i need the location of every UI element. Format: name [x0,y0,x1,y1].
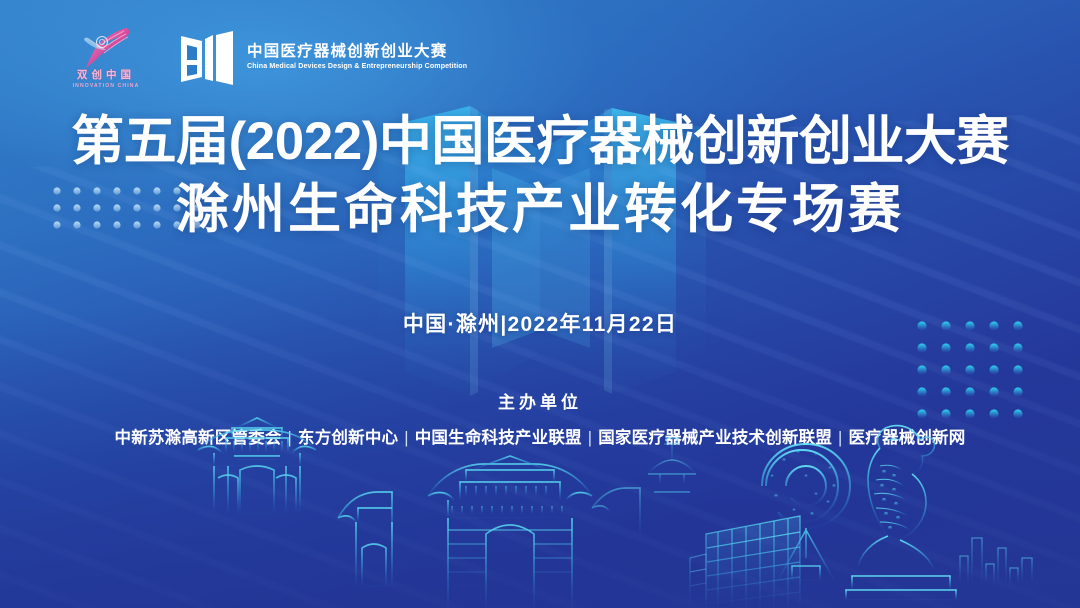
open-door-emblem-icon [178,29,236,85]
merlion-statue [846,426,956,600]
competition-title-cn: 中国医疗器械创新创业大赛 [247,44,471,60]
innovation-china-logo: 双创中国 INNOVATION CHINA [60,24,152,90]
competition-logo: 中国医疗器械创新创业大赛 China Medical Devices Desig… [178,29,471,85]
left-logo-en-text: INNOVATION CHINA [59,84,153,89]
small-skyline [952,526,1044,584]
pagoda-pavilion [198,418,316,513]
main-title-line2: 滁州生命科技产业转化专场赛 [0,180,1080,239]
title-block: 第五届(2022)中国医疗器械创新创业大赛 滁州生命科技产业转化专场赛 [0,112,1080,240]
header-logos: 双创中国 INNOVATION CHINA 中国医疗器械创新创业大赛 China… [60,24,471,90]
street-lamp [648,438,696,608]
poster-canvas: 双创中国 INNOVATION CHINA 中国医疗器械创新创业大赛 China… [0,0,1080,608]
city-gate-tower [338,456,640,608]
left-logo-cn-text: 双创中国 [60,70,152,81]
competition-logo-text: 中国医疗器械创新创业大赛 China Medical Devices Desig… [247,44,471,70]
office-tower [690,516,800,608]
main-title-line1: 第五届(2022)中国医疗器械创新创业大赛 [0,112,1080,171]
city-skyline-illustration [0,408,1080,608]
place-and-date: 中国·滁州|2022年11月22日 [0,308,1080,338]
phoenix-bird-icon [68,24,144,72]
competition-title-en: China Medical Devices Design & Entrepren… [247,62,467,70]
